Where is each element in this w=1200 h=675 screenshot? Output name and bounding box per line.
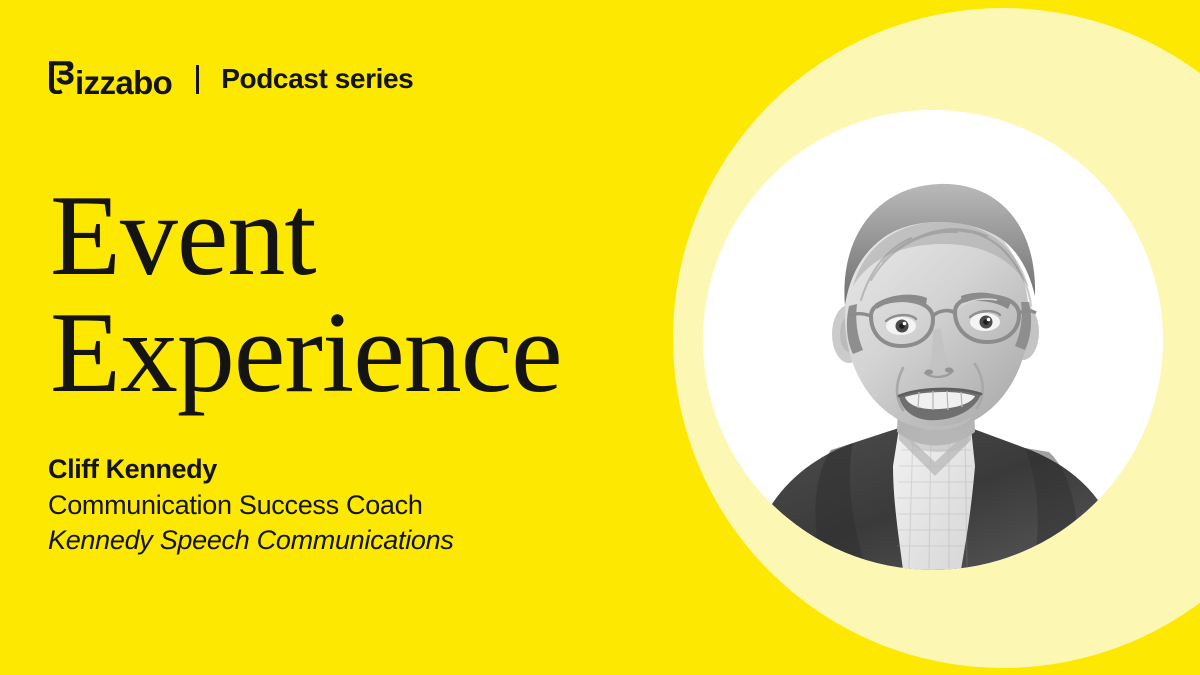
vertical-divider-icon bbox=[196, 65, 199, 94]
page-title-line-2: Experience bbox=[50, 295, 562, 412]
brand-header: izzabo Podcast series bbox=[48, 57, 413, 101]
bizzabo-wordmark: izzabo bbox=[75, 66, 172, 99]
speaker-company: Kennedy Speech Communications bbox=[48, 523, 454, 559]
podcast-series-label: Podcast series bbox=[221, 65, 413, 93]
speaker-portrait-image bbox=[703, 110, 1163, 570]
speaker-credit-block: Cliff Kennedy Communication Success Coac… bbox=[48, 452, 454, 559]
speaker-role: Communication Success Coach bbox=[48, 488, 454, 524]
bizzabo-b-monogram-icon bbox=[48, 60, 74, 94]
speaker-name: Cliff Kennedy bbox=[48, 452, 454, 488]
podcast-series-title-card: izzabo Podcast series Event Experience C… bbox=[0, 0, 1200, 675]
page-title: Event Experience bbox=[50, 178, 562, 412]
page-title-line-1: Event bbox=[50, 178, 562, 295]
bizzabo-logo[interactable]: izzabo bbox=[48, 60, 172, 99]
speaker-portrait-circle bbox=[703, 110, 1163, 570]
